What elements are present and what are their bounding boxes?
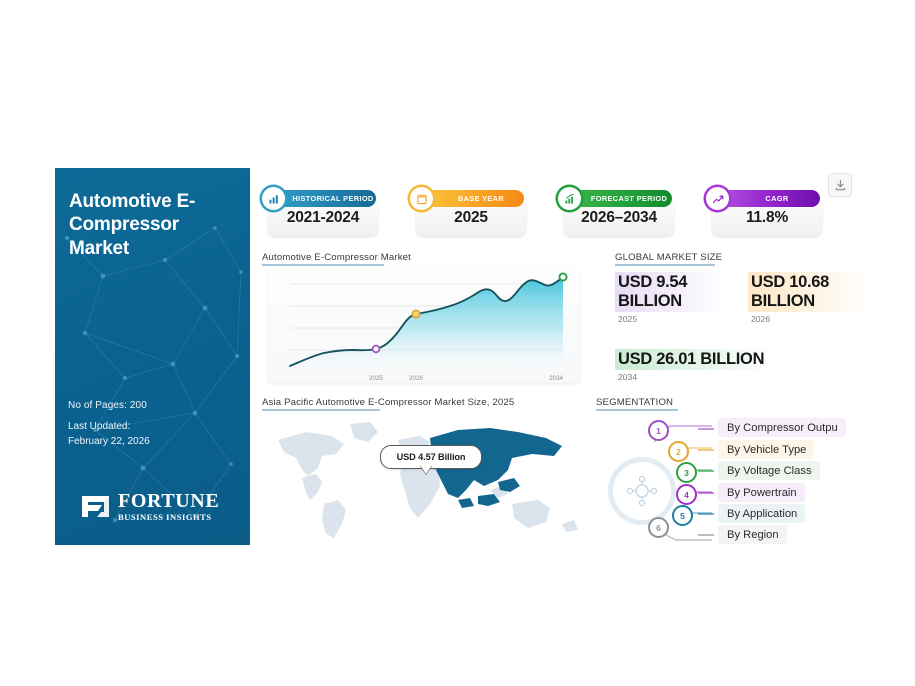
chart-heading: Automotive E-Compressor Market bbox=[262, 252, 411, 266]
badge-historical-period[interactable]: 2021-2024 HISTORICAL PERIOD bbox=[262, 190, 380, 236]
segment-number: 1 bbox=[648, 420, 669, 441]
brand-name: FORTUNE bbox=[118, 491, 219, 511]
market-size-year: 2026 bbox=[748, 314, 863, 324]
marker-2034 bbox=[559, 273, 566, 280]
map-callout-tail bbox=[420, 465, 432, 474]
badge-icon-knob bbox=[262, 187, 285, 210]
badge-label: CAGR bbox=[720, 190, 820, 207]
segment-label: By Voltage Class bbox=[718, 461, 820, 480]
segment-number: 5 bbox=[672, 505, 693, 526]
heading-underline bbox=[262, 264, 384, 266]
market-size-2026: USD 10.68 BILLION 2026 bbox=[748, 272, 863, 324]
calendar-icon bbox=[416, 193, 428, 205]
company-logo: FORTUNE BUSINESS INSIGHTS bbox=[80, 491, 219, 522]
segment-number: 2 bbox=[668, 441, 689, 462]
world-map[interactable]: USD 4.57 Billion bbox=[262, 412, 592, 544]
market-trend-chart[interactable]: 2025 2026 2034 bbox=[268, 268, 580, 383]
market-size-year: 2034 bbox=[615, 372, 855, 382]
badge-label: HISTORICAL PERIOD bbox=[276, 190, 376, 207]
market-size-value: USD 9.54 BILLION bbox=[615, 272, 720, 312]
heading-underline bbox=[262, 409, 380, 411]
badge-label: FORECAST PERIOD bbox=[572, 190, 672, 207]
marker-2025 bbox=[373, 346, 380, 353]
segment-label: By Powertrain bbox=[718, 483, 805, 502]
badge-label: BASE YEAR bbox=[424, 190, 524, 207]
segment-connector bbox=[698, 428, 714, 430]
market-size-value: USD 26.01 BILLION bbox=[615, 349, 767, 370]
hub-network-icon bbox=[625, 474, 659, 508]
x-tick-2025: 2025 bbox=[369, 375, 383, 382]
infographic-canvas: Automotive E-Compressor Market No of Pag… bbox=[0, 0, 915, 686]
fortune-logo-icon bbox=[80, 493, 111, 520]
market-size-2034: USD 26.01 BILLION 2034 bbox=[615, 349, 855, 382]
segment-connector bbox=[698, 534, 714, 536]
world-map-svg bbox=[262, 412, 592, 544]
last-updated-date: February 22, 2026 bbox=[68, 436, 150, 447]
segment-label: By Vehicle Type bbox=[718, 440, 814, 459]
global-heading-text: GLOBAL MARKET SIZE bbox=[615, 252, 722, 263]
area-fill bbox=[290, 277, 563, 372]
x-tick-2034: 2034 bbox=[549, 375, 563, 382]
segment-connector bbox=[698, 470, 714, 472]
heading-underline bbox=[615, 264, 715, 266]
badge-pill: FORECAST PERIOD bbox=[572, 190, 672, 207]
report-cover-panel: Automotive E-Compressor Market No of Pag… bbox=[55, 168, 250, 545]
segmentation-heading-text: SEGMENTATION bbox=[596, 397, 673, 408]
market-size-year: 2025 bbox=[615, 314, 720, 324]
heading-underline bbox=[596, 409, 678, 411]
badge-pill: BASE YEAR bbox=[424, 190, 524, 207]
last-updated-label: Last Updated: bbox=[68, 421, 130, 432]
badge-icon-knob bbox=[558, 187, 581, 210]
map-heading: Asia Pacific Automotive E-Compressor Mar… bbox=[262, 397, 514, 411]
trend-arrow-icon bbox=[712, 193, 724, 205]
market-size-2025: USD 9.54 BILLION 2025 bbox=[615, 272, 720, 324]
segment-connector bbox=[698, 449, 714, 451]
badge-icon-knob bbox=[410, 187, 433, 210]
marker-2026 bbox=[412, 310, 419, 317]
bar-chart-icon bbox=[268, 193, 280, 205]
market-size-value: USD 10.68 BILLION bbox=[748, 272, 863, 312]
badge-cagr[interactable]: 11.8% CAGR bbox=[706, 190, 824, 236]
x-tick-2026: 2026 bbox=[409, 375, 423, 382]
download-icon bbox=[834, 179, 847, 192]
map-heading-text: Asia Pacific Automotive E-Compressor Mar… bbox=[262, 397, 514, 408]
brand-tagline: BUSINESS INSIGHTS bbox=[118, 513, 219, 522]
segment-label: By Region bbox=[718, 525, 787, 544]
last-updated-block: Last Updated: February 22, 2026 bbox=[68, 420, 150, 449]
badge-pill: HISTORICAL PERIOD bbox=[276, 190, 376, 207]
segmentation-list: 1 By Compressor Outpu 2 By Vehicle Type … bbox=[600, 412, 915, 545]
badge-pill: CAGR bbox=[720, 190, 820, 207]
badge-icon-knob bbox=[706, 187, 729, 210]
download-button[interactable] bbox=[828, 173, 852, 197]
segmentation-hub bbox=[608, 457, 676, 525]
badge-forecast-period[interactable]: 2026–2034 FORECAST PERIOD bbox=[558, 190, 676, 236]
page-count-label: No of Pages: 200 bbox=[68, 400, 147, 411]
area-chart-svg: 2025 2026 2034 bbox=[268, 268, 580, 383]
chart-heading-text: Automotive E-Compressor Market bbox=[262, 252, 411, 263]
page-title: Automotive E-Compressor Market bbox=[69, 190, 239, 260]
segmentation-heading: SEGMENTATION bbox=[596, 397, 673, 411]
chart-up-icon bbox=[564, 193, 576, 205]
badge-base-year[interactable]: 2025 BASE YEAR bbox=[410, 190, 528, 236]
segment-label: By Application bbox=[718, 504, 805, 523]
segment-number: 6 bbox=[648, 517, 669, 538]
segment-number: 4 bbox=[676, 484, 697, 505]
segment-connector bbox=[698, 492, 714, 494]
global-market-size-heading: GLOBAL MARKET SIZE bbox=[615, 252, 722, 266]
segment-number: 3 bbox=[676, 462, 697, 483]
kpi-badge-row: 2021-2024 HISTORICAL PERIOD 2025 BASE YE… bbox=[262, 180, 852, 238]
segment-label: By Compressor Outpu bbox=[718, 418, 846, 437]
segment-connector bbox=[698, 513, 714, 515]
brand-text: FORTUNE BUSINESS INSIGHTS bbox=[118, 491, 219, 522]
